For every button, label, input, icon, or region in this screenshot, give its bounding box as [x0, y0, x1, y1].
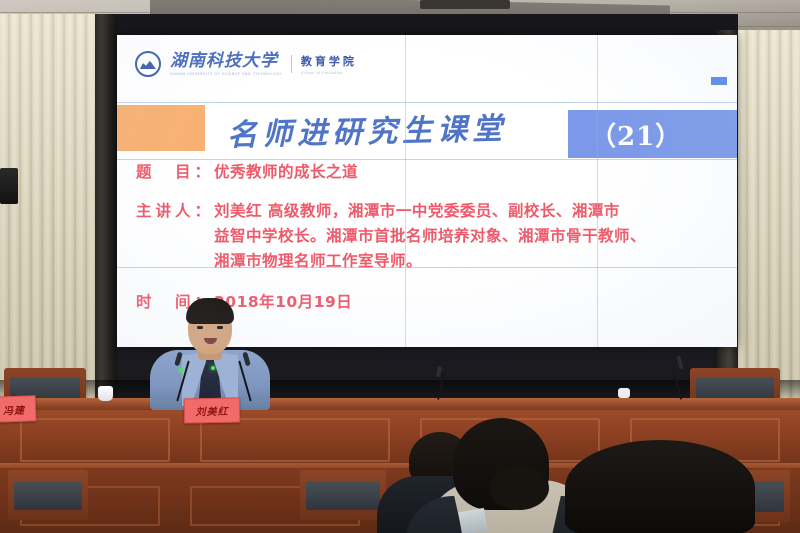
- slide-body: 题 目： 优秀教师的成长之道 主讲人： 刘美红 高级教师，湘潭市一中党委委员、副…: [136, 160, 716, 315]
- college-name-en: School of Education: [301, 71, 357, 75]
- led-panel-seam: [597, 35, 598, 347]
- nameplate-speaker-text: 刘美红: [195, 403, 228, 419]
- led-panel-seam: [117, 159, 737, 160]
- orange-accent-block: [117, 105, 205, 151]
- speaker-label: 主讲人：: [136, 199, 214, 224]
- presenter-eye-left: [197, 326, 203, 329]
- time-value: 2018年10月19日: [214, 290, 716, 315]
- nameplate-left-text: 冯建: [3, 401, 26, 417]
- slide-field-topic: 题 目： 优秀教师的成长之道: [136, 160, 716, 185]
- podium-panel: [200, 418, 390, 462]
- nameplate-speaker: 刘美红: [184, 398, 240, 424]
- topic-label: 题 目：: [136, 160, 214, 185]
- water-cup-secondary: [618, 388, 630, 398]
- chair-mid-center: [300, 470, 386, 520]
- ceiling-seam: [0, 12, 800, 13]
- led-panel-seam: [117, 267, 737, 268]
- audience-member-long-hair: [565, 440, 755, 533]
- presenter-eye-right: [217, 326, 223, 329]
- audience-a-ponytail: [489, 466, 549, 510]
- header-divider: [291, 55, 292, 73]
- slide-header: 湖南科技大学 HUNAN UNIVERSITY OF SCIENCE AND T…: [135, 51, 357, 77]
- water-cup: [98, 386, 113, 401]
- slide-field-speaker: 主讲人： 刘美红 高级教师，湘潭市一中党委委员、副校长、湘潭市: [136, 199, 716, 224]
- audience-b-hair: [565, 440, 755, 533]
- led-panel-seam: [405, 35, 406, 347]
- audience-paper: [458, 508, 488, 533]
- blue-accent-tick: [711, 77, 727, 85]
- topic-value: 优秀教师的成长之道: [214, 160, 716, 185]
- university-name-en: HUNAN UNIVERSITY OF SCIENCE AND TECHNOLO…: [170, 72, 282, 76]
- university-emblem-icon: [135, 51, 161, 77]
- wall-speaker-icon: [0, 168, 18, 204]
- university-name: 湖南科技大学: [170, 53, 282, 70]
- chair-mid-left: [8, 470, 88, 520]
- session-number-text: （21）: [590, 116, 682, 153]
- speaker-line-3: 湘潭市物理名师工作室导师。: [136, 249, 716, 274]
- session-number-badge: （21）: [568, 110, 737, 158]
- microphone-led-icon: [179, 368, 183, 372]
- nameplate-left-partial: 冯建: [0, 395, 36, 423]
- speaker-line-2: 益智中学校长。湘潭市首批名师培养对象、湘潭市骨干教师、: [136, 224, 716, 249]
- podium-panel: [20, 418, 170, 462]
- speaker-value: 刘美红 高级教师，湘潭市一中党委委员、副校长、湘潭市: [214, 199, 716, 224]
- presenter: [150, 298, 270, 408]
- ceiling-lamp: [420, 0, 510, 9]
- microphone-led-icon: [211, 366, 215, 370]
- college-name: 教育学院: [301, 53, 357, 69]
- slide-title: 名师进研究生课堂: [227, 104, 508, 155]
- screenshot-root: 湖南科技大学 HUNAN UNIVERSITY OF SCIENCE AND T…: [0, 0, 800, 533]
- presenter-hair: [186, 298, 234, 324]
- led-panel-seam: [117, 102, 737, 103]
